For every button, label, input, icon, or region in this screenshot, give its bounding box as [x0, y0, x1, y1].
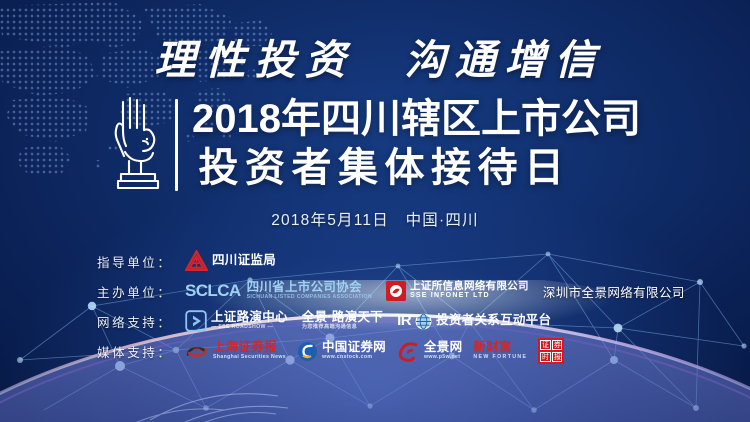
event-date-location: 2018年5月11日 中国·四川: [0, 208, 750, 230]
logo-name-en: NEW FORTUNE: [473, 355, 527, 361]
ir-globe-icon: [415, 313, 432, 330]
logo-name-cn: 投资者关系互动平台: [436, 314, 551, 327]
logo-name-cn: 全景网: [424, 341, 462, 354]
title-block: 2018年四川辖区上市公司 投资者集体接待日: [0, 92, 750, 197]
logo-ir-platform[interactable]: IR 投资者关系互动平台: [397, 313, 551, 330]
logo-p5w[interactable]: 全景网 www.p5w.net: [397, 341, 462, 362]
logo-name-cn: 四川省上市公司协会: [247, 281, 372, 294]
logo-p5w-roadshow[interactable]: 全景·路演天下 为您推荐高端沟通信息: [302, 311, 383, 330]
logo-sichuan-csrc[interactable]: 四川证监局: [185, 250, 276, 273]
logo-shanghai-securities-news[interactable]: 上海证券报 Shanghai Securities News: [185, 340, 286, 362]
poster-banner: 理性投资 沟通增信 2018年四川辖区上市公司 投资者集体接待日 2018年5月…: [0, 0, 750, 422]
credit-label: 媒体支持：: [97, 342, 185, 361]
p5w-swirl-icon: [397, 341, 420, 362]
logo-name-cn: 全景·路演天下: [302, 311, 383, 324]
logo-name-cn: 新财富: [473, 341, 527, 354]
credit-label: 网络支持：: [97, 312, 185, 331]
credit-label: 指导单位：: [97, 252, 185, 271]
title-divider-bar: [175, 99, 178, 191]
logo-cnstock[interactable]: 中国证券网 www.cnstock.com: [297, 341, 386, 362]
logo-securities-times[interactable]: 证 券 时 报: [538, 338, 564, 364]
sse-roadshow-play-icon: [185, 310, 207, 332]
logo-sse-roadshow[interactable]: 上证路演中心 — SSE ROADSHOW —: [185, 310, 288, 332]
ir-wordmark: IR: [397, 313, 411, 329]
logo-sse-infonet[interactable]: 上证所信息网络有限公司 SSE INFONET LTD: [386, 281, 529, 301]
main-title-line-1: 2018年四川辖区上市公司: [192, 96, 641, 143]
logo-name-cn: 中国证券网: [322, 341, 386, 354]
credit-row-organizer: 主办单位： SCLCA 四川省上市公司协会 SICHUAN LISTED COM…: [0, 276, 750, 306]
logo-name-cn: 四川证监局: [212, 254, 276, 267]
logo-name-en: Shanghai Securities News: [213, 355, 286, 361]
logo-sclca[interactable]: SCLCA 四川省上市公司协会 SICHUAN LISTED COMPANIES…: [185, 281, 372, 300]
sse-infonet-badge-icon: [386, 281, 406, 301]
hand-bird-book-emblem-icon: [109, 92, 167, 197]
logo-name-en: SSE INFONET LTD: [410, 292, 529, 300]
credit-row-network-support: 网络支持： 上证路演中心 — SSE ROADSHOW — 全景·路: [0, 306, 750, 336]
seal-char: 时: [540, 352, 550, 362]
credits-section: 指导单位： 四川证监局 主办单位： SCLCA: [0, 246, 750, 366]
seal-char: 报: [552, 352, 562, 362]
sichuan-csrc-triangle-icon: [185, 250, 208, 273]
credit-label: 主办单位：: [97, 282, 185, 301]
securities-times-seal-icon: 证 券 时 报: [538, 338, 564, 364]
logo-name-en: www.cnstock.com: [322, 355, 386, 361]
logo-name-en: — SSE ROADSHOW —: [211, 325, 288, 331]
logo-name-en: 为您推荐高端沟通信息: [302, 325, 383, 331]
cnstock-globe-icon: [297, 341, 318, 362]
seal-char: 券: [552, 340, 562, 350]
logo-name-cn: 上海证券报: [213, 341, 286, 354]
credit-row-media-support: 媒体支持： 上海证券报 Shanghai Securities News: [0, 336, 750, 366]
seal-char: 证: [540, 340, 550, 350]
logo-name-en: www.p5w.net: [424, 355, 462, 361]
partner-shenzhen-p5w: 深圳市全景网络有限公司: [543, 282, 685, 301]
logo-name-en: SICHUAN LISTED COMPANIES ASSOCIATION: [247, 295, 372, 301]
sclca-wordmark-icon: SCLCA: [185, 282, 241, 300]
logo-name-cn: 上证所信息网络有限公司: [410, 281, 529, 292]
main-title-line-2: 投资者集体接待日: [192, 143, 641, 193]
credit-row-guidance: 指导单位： 四川证监局: [0, 246, 750, 276]
poster-slogan: 理性投资 沟通增信: [0, 26, 750, 86]
shanghai-securities-news-icon: [185, 340, 209, 362]
logo-new-fortune[interactable]: 新财富 NEW FORTUNE: [473, 341, 527, 360]
logo-name-cn: 上证路演中心: [211, 311, 288, 324]
